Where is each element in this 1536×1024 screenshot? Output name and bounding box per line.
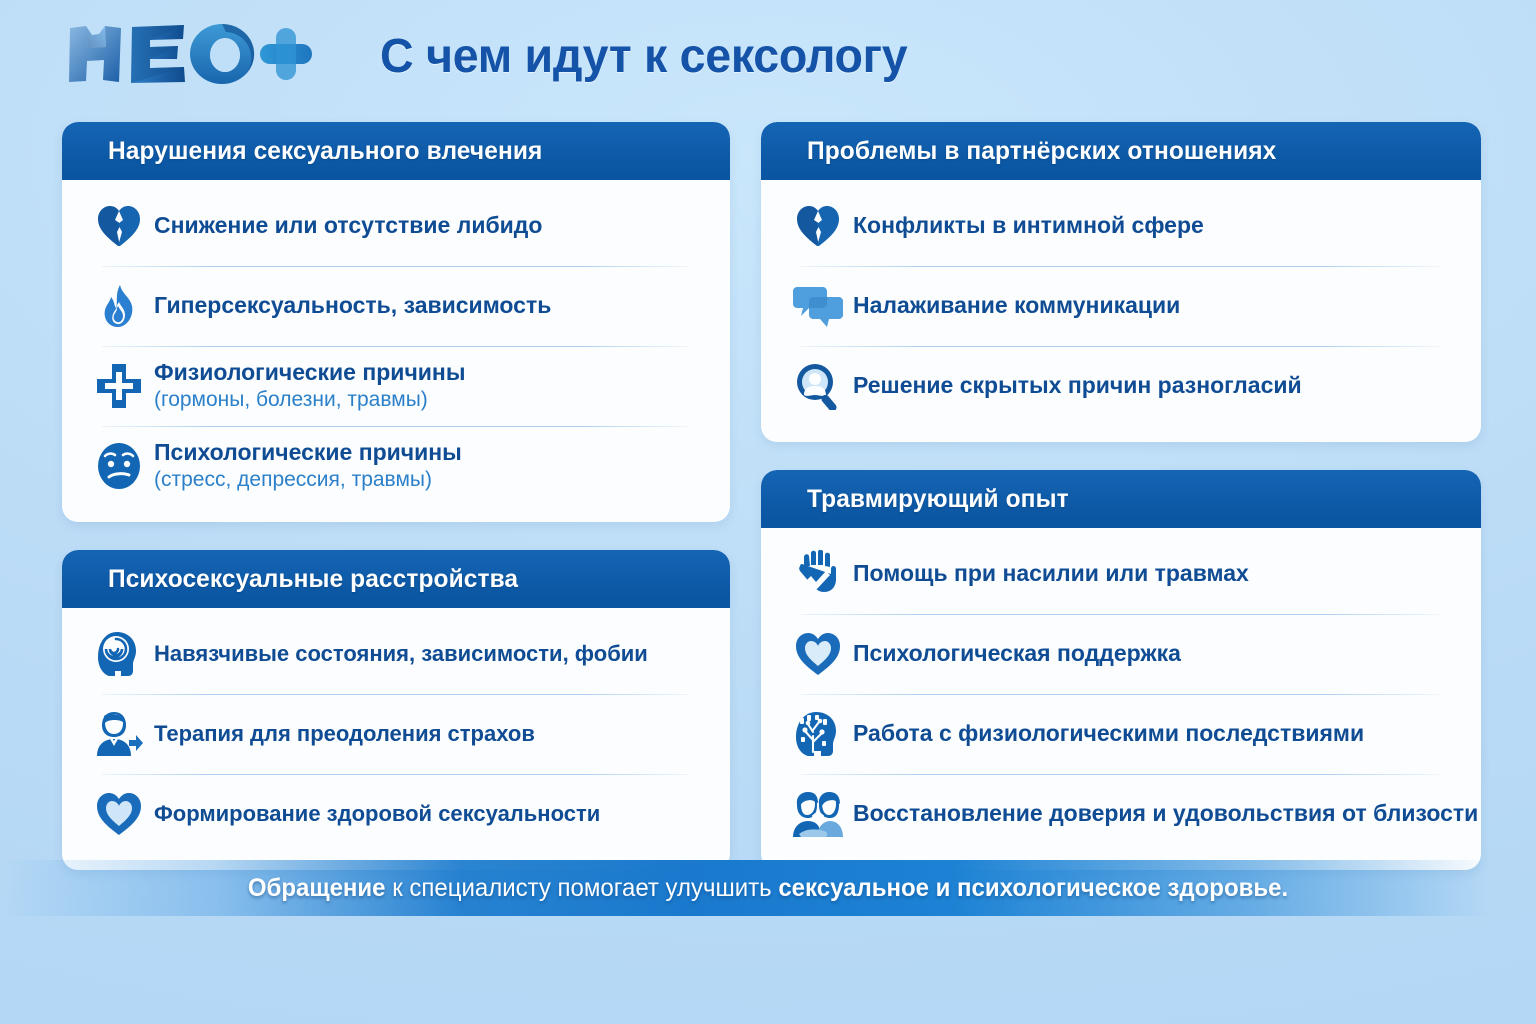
list-item-subtitle: (гормоны, болезни, травмы) [154, 388, 428, 411]
couple-embrace-icon [787, 786, 849, 842]
footer-tail: сексуальное и психологическое здоровье. [778, 874, 1288, 902]
list-item-text: Навязчивые состояния, зависимости, фобии [150, 641, 704, 667]
list-item[interactable]: Решение скрытых причин разногласий [787, 346, 1455, 426]
list-item[interactable]: Психологическая поддержка [787, 614, 1455, 694]
list-item-text: Решение скрытых причин разногласий [849, 372, 1455, 400]
list-item-text: Снижение или отсутствие либидо [150, 212, 704, 240]
list-item-title: Гиперсексуальность, зависимость [154, 292, 551, 318]
card-header-label: Травмирующий опыт [807, 485, 1069, 514]
infographic-page: С чем идут к сексологу Нарушения сексуал… [0, 0, 1536, 1024]
list-item-title: Решение скрытых причин разногласий [853, 372, 1302, 398]
list-item[interactable]: Работа с физиологическими последствиями [787, 694, 1455, 774]
list-item-text: Помощь при насилии или травмах [849, 560, 1455, 588]
brain-tree-head-icon [787, 706, 849, 762]
list-item-text: Конфликты в интимной сфере [849, 212, 1455, 240]
list-item-title: Снижение или отсутствие либидо [154, 212, 542, 238]
list-item-text: Восстановление доверия и удовольствия от… [849, 800, 1455, 828]
card-body: Навязчивые состояния, зависимости, фобии [62, 608, 730, 870]
list-item[interactable]: Формирование здоровой сексуальности [88, 774, 704, 854]
footer-lead: Обращение [248, 874, 386, 902]
page-header: С чем идут к сексологу [0, 0, 1536, 112]
list-item[interactable]: Терапия для преодоления страхов [88, 694, 704, 774]
footer-middle: к специалисту помогает улучшить [386, 874, 779, 902]
card-header: Проблемы в партнёрских отношениях [761, 122, 1481, 180]
list-item-title: Конфликты в интимной сфере [853, 212, 1204, 238]
card-header: Нарушения сексуального влечения [62, 122, 730, 180]
list-item-title: Психологические причины [154, 439, 462, 465]
list-item[interactable]: Помощь при насилии или травмах [787, 534, 1455, 614]
card-header: Травмирующий опыт [761, 470, 1481, 528]
list-item-text: Формирование здоровой сексуальности [150, 801, 704, 827]
list-item[interactable]: Восстановление доверия и удовольствия от… [787, 774, 1455, 854]
list-item-title: Терапия для преодоления страхов [154, 721, 535, 746]
speech-bubbles-icon [787, 278, 849, 334]
list-item-text: Работа с физиологическими последствиями [849, 720, 1455, 748]
card-body: Конфликты в интимной сфере Налаживание к… [761, 180, 1481, 442]
left-column: Нарушения сексуального влечения Снижение… [62, 122, 730, 898]
list-item-title: Навязчивые состояния, зависимости, фобии [154, 641, 648, 666]
right-column: Проблемы в партнёрских отношениях Конфли… [761, 122, 1481, 898]
list-item-text: Терапия для преодоления страхов [150, 721, 704, 747]
head-spiral-icon [88, 626, 150, 682]
list-item[interactable]: Физиологические причины (гормоны, болезн… [88, 346, 704, 426]
list-item[interactable]: Налаживание коммуникации [787, 266, 1455, 346]
list-item[interactable]: Психологические причины (стресс, депресс… [88, 426, 704, 506]
card-partnership-problems: Проблемы в партнёрских отношениях Конфли… [761, 122, 1481, 442]
sad-face-icon [88, 438, 150, 494]
neo-plus-logo [62, 16, 312, 92]
list-item-subtitle: (стресс, депрессия, травмы) [154, 468, 432, 491]
list-item[interactable]: Конфликты в интимной сфере [787, 186, 1455, 266]
list-item-text: Психологические причины (стресс, депресс… [150, 439, 704, 493]
flame-icon [88, 278, 150, 334]
footer-message: Обращение к специалисту помогает улучшит… [31, 860, 1506, 916]
list-item-title: Восстановление доверия и удовольствия от… [853, 800, 1478, 826]
card-header-label: Проблемы в партнёрских отношениях [807, 137, 1276, 166]
list-item-text: Психологическая поддержка [849, 640, 1455, 668]
list-item[interactable]: Снижение или отсутствие либидо [88, 186, 704, 266]
list-item-text: Налаживание коммуникации [849, 292, 1455, 320]
card-traumatic-experience: Травмирующий опыт [761, 470, 1481, 870]
list-item[interactable]: Навязчивые состояния, зависимости, фобии [88, 614, 704, 694]
list-item-title: Физиологические причины [154, 359, 465, 385]
hand-check-icon [787, 546, 849, 602]
broken-heart-icon [88, 198, 150, 254]
card-header: Психосексуальные расстройства [62, 550, 730, 608]
heart-outline-icon [88, 786, 150, 842]
magnifier-person-icon [787, 358, 849, 414]
medical-cross-icon [88, 358, 150, 414]
list-item-text: Физиологические причины (гормоны, болезн… [150, 359, 704, 413]
card-header-label: Нарушения сексуального влечения [108, 137, 542, 166]
card-psychosexual-disorders: Психосексуальные расстройства Навязчивые… [62, 550, 730, 870]
list-item[interactable]: Гиперсексуальность, зависимость [88, 266, 704, 346]
broken-heart-icon [787, 198, 849, 254]
heart-outline-icon [787, 626, 849, 682]
card-sexual-desire-disorders: Нарушения сексуального влечения Снижение… [62, 122, 730, 522]
list-item-title: Формирование здоровой сексуальности [154, 801, 600, 826]
person-plus-icon [88, 706, 150, 762]
list-item-text: Гиперсексуальность, зависимость [150, 292, 704, 320]
page-title: С чем идут к сексологу [380, 20, 1059, 94]
card-header-label: Психосексуальные расстройства [108, 565, 518, 594]
list-item-title: Психологическая поддержка [853, 640, 1181, 666]
card-body: Помощь при насилии или травмах Психологи… [761, 528, 1481, 870]
list-item-title: Налаживание коммуникации [853, 292, 1180, 318]
list-item-title: Работа с физиологическими последствиями [853, 720, 1364, 746]
card-body: Снижение или отсутствие либидо Гиперсекс… [62, 180, 730, 522]
list-item-title: Помощь при насилии или травмах [853, 560, 1249, 586]
